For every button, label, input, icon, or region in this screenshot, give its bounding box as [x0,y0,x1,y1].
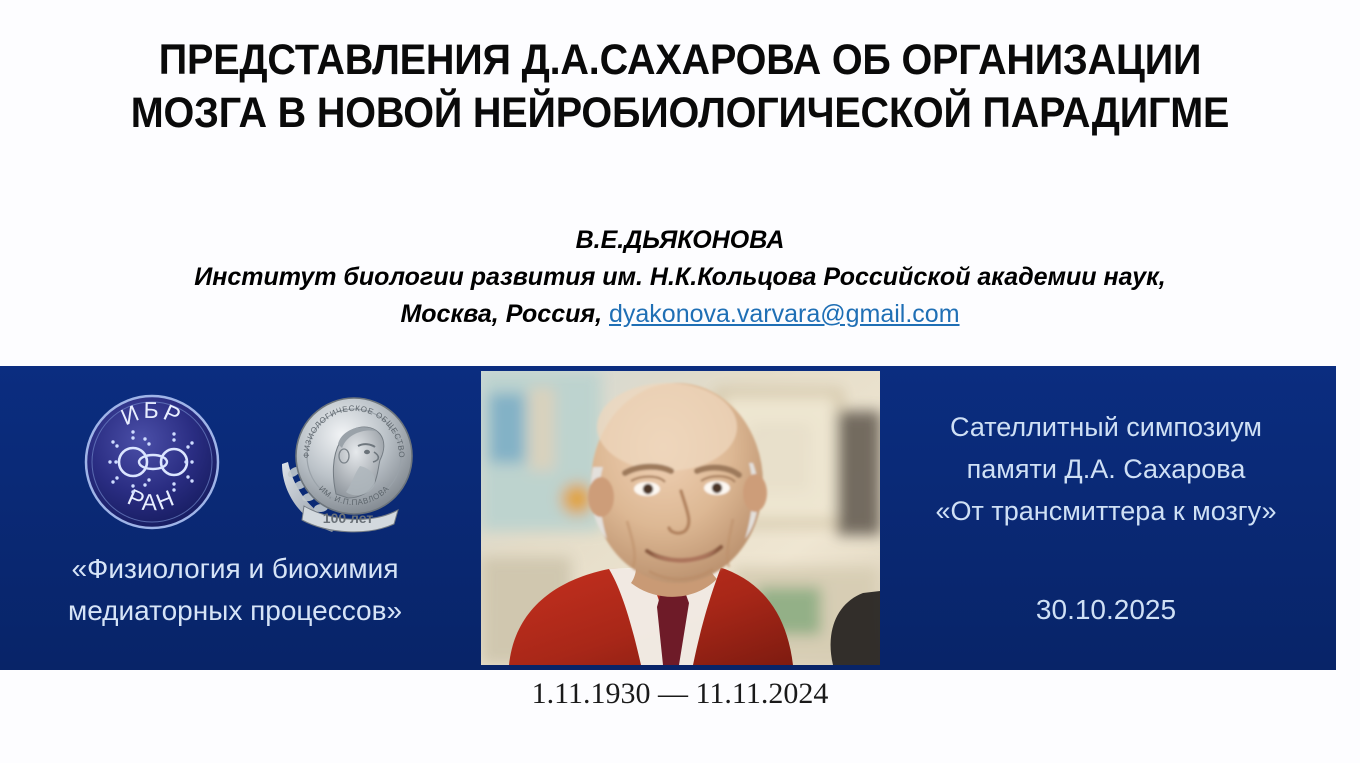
medal-ribbon-text: 100 лет [323,510,374,526]
author-block: В.Е.ДЬЯКОНОВА Институт биологии развития… [0,222,1360,333]
portrait-photo [481,371,880,665]
life-dates: 1.11.1930 — 11.11.2024 [0,677,1360,711]
conference-banner: ИБР РАН [0,366,1336,670]
author-city: Москва, Россия, [400,300,609,328]
society-caption: «Физиология и биохимия медиаторных проце… [10,548,460,632]
page-title: ПРЕДСТАВЛЕНИЯ Д.А.САХАРОВА ОБ ОРГАНИЗАЦИ… [54,34,1305,140]
ibr-ran-logo-icon: ИБР РАН [82,392,222,532]
author-affiliation: Институт биологии развития им. Н.К.Кольц… [0,259,1360,296]
logo-row: ИБР РАН [36,382,466,542]
pavlov-society-medal-icon: ФИЗИОЛОГИЧЕСКОЕ ОБЩЕСТВО ИМ. И.П.ПАВЛОВА [274,390,420,538]
author-location-line: Москва, Россия, dyakonova.varvara@gmail.… [0,296,1360,333]
symposium-date: 30.10.2025 [886,594,1326,626]
author-email-link[interactable]: dyakonova.varvara@gmail.com [609,300,960,328]
symposium-title: Сателлитный симпозиум памяти Д.А. Сахаро… [886,406,1326,532]
author-name: В.Е.ДЬЯКОНОВА [0,222,1360,259]
